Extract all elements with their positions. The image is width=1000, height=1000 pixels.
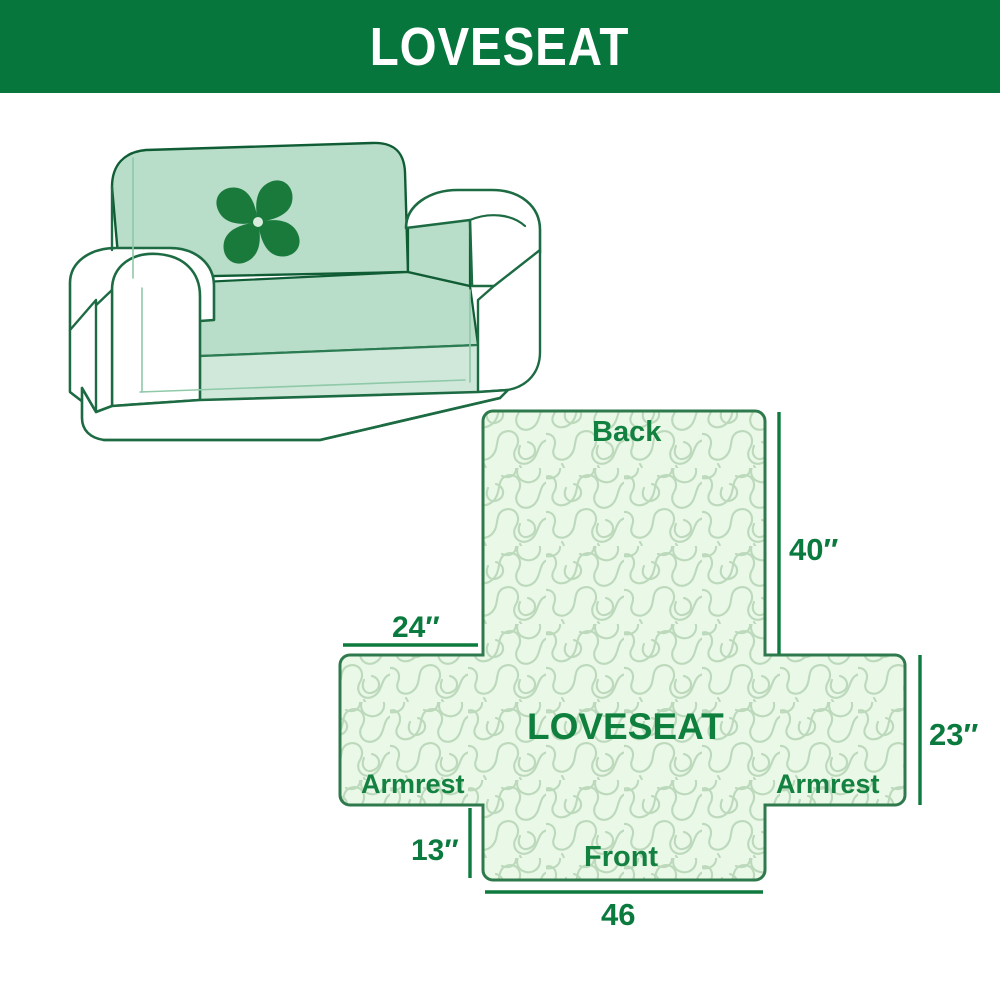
dimension-label-front-height: 13″ bbox=[411, 836, 459, 866]
dimension-label-armrest-width: 24″ bbox=[392, 613, 440, 643]
panel-label-armrest-right: Armrest bbox=[776, 771, 880, 798]
pinwheel-fan-icon bbox=[216, 180, 299, 263]
dimension-label-total-width: 46 bbox=[601, 899, 635, 930]
loveseat-illustration bbox=[0, 0, 1000, 1000]
panel-label-center: LOVESEAT bbox=[527, 708, 724, 745]
cover-dimension-diagram bbox=[0, 0, 1000, 1000]
page-title: LOVESEAT bbox=[370, 20, 630, 74]
dimension-label-back-height: 40″ bbox=[789, 534, 838, 565]
panel-label-armrest-left: Armrest bbox=[361, 771, 465, 798]
page-canvas: LOVESEAT bbox=[0, 0, 1000, 1000]
panel-label-front: Front bbox=[584, 843, 658, 872]
header-banner: LOVESEAT bbox=[0, 0, 1000, 93]
panel-label-back: Back bbox=[592, 418, 661, 447]
cover-cross-shape bbox=[340, 411, 905, 880]
dimension-label-seat-depth: 23″ bbox=[929, 719, 978, 750]
